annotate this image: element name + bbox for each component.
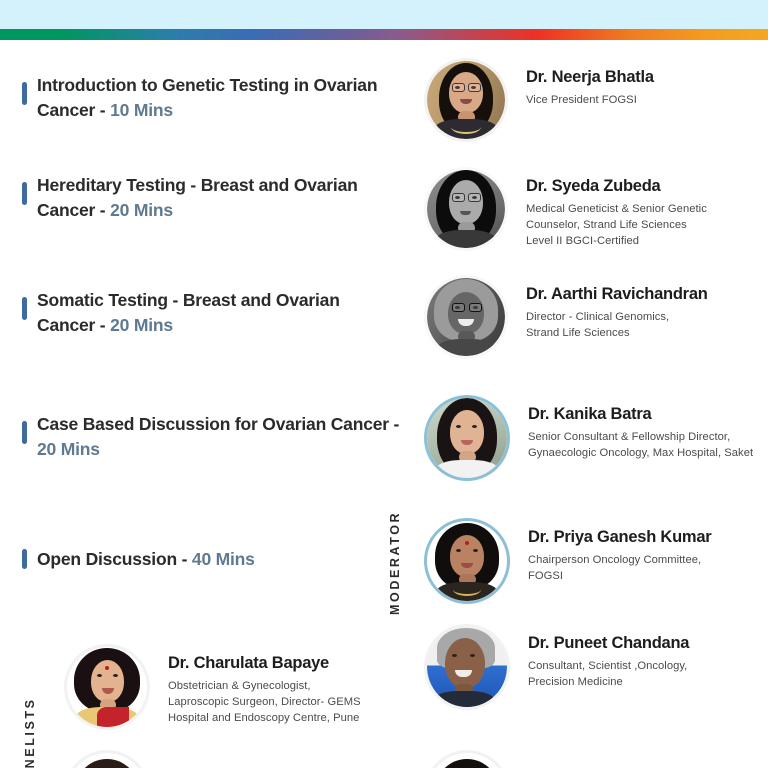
speaker-title: Senior Consultant & Fellowship Director,…: [528, 430, 753, 462]
session-row: Introduction to Genetic Testing in Ovari…: [22, 73, 400, 123]
speaker-name: Dr. Syeda Zubeda: [526, 177, 707, 197]
session-duration: 20 Mins: [110, 200, 173, 220]
speaker-meta: Dr. Charulata Bapaye Obstetrician & Gyne…: [150, 644, 361, 727]
panelists-label: PANELISTS: [23, 660, 37, 768]
session-marker: [22, 297, 27, 320]
session-marker: [22, 549, 27, 569]
session-marker: [22, 82, 27, 105]
speaker-title: Consultant, Scientist ,Oncology, Precisi…: [528, 659, 689, 691]
avatar: [424, 518, 510, 604]
speaker-name: Dr. Priya Ganesh Kumar: [528, 528, 711, 548]
speaker-row: Dr. Priya Ganesh Kumar Chairperson Oncol…: [424, 518, 711, 604]
speaker-title: Chairperson Oncology Committee, FOGSI: [528, 553, 711, 585]
session-row: Somatic Testing - Breast and Ovarian Can…: [22, 288, 400, 338]
session-title: Somatic Testing - Breast and Ovarian Can…: [37, 288, 400, 338]
avatar: [424, 275, 508, 359]
session-duration: 20 Mins: [110, 315, 173, 335]
session-title: Case Based Discussion for Ovarian Cancer…: [37, 412, 400, 462]
session-duration: 10 Mins: [110, 100, 173, 120]
speaker-meta: Dr. Aarthi Ravichandran Director - Clini…: [508, 275, 708, 342]
avatar-image: [427, 170, 505, 248]
page-header: Breast and Ovarian Cancer: [0, 0, 768, 29]
session-title-text: Somatic Testing - Breast and Ovarian Can…: [37, 290, 340, 335]
avatar-image: [427, 278, 505, 356]
avatar-image: [67, 753, 147, 768]
speaker-name: Dr. Aarthi Ravichandran: [526, 285, 708, 305]
speaker-name: Dr. Charulata Bapaye: [168, 654, 361, 674]
avatar: [64, 750, 150, 768]
speaker-meta: Dr. Kanika Batra Senior Consultant & Fel…: [510, 395, 753, 462]
speaker-meta: Dr. Neerja Bhatla Vice President FOGSI: [508, 58, 654, 109]
speaker-title: Director - Clinical Genomics, Strand Lif…: [526, 310, 708, 342]
speaker-name: Dr. Puneet Chandana: [528, 634, 689, 654]
session-duration: 40 Mins: [192, 549, 255, 569]
speaker-row: Dr. Neerja Bhatla Vice President FOGSI: [424, 58, 654, 142]
session-duration: 20 Mins: [37, 439, 100, 459]
speaker-meta: Dr. Syeda Zubeda Medical Geneticist & Se…: [508, 167, 707, 250]
avatar-image: [67, 647, 147, 727]
session-title-text: Open Discussion -: [37, 549, 192, 569]
speaker-title: Obstetrician & Gynecologist, Laproscopic…: [168, 679, 361, 727]
avatar: [424, 624, 510, 710]
speaker-meta: Dr. Puneet Chandana Consultant, Scientis…: [510, 624, 689, 691]
gradient-divider: [0, 29, 768, 40]
speaker-name: Dr. Neerja Bhatla: [526, 68, 654, 88]
avatar-image: [427, 627, 507, 707]
avatar: [424, 750, 510, 768]
avatar-image: [427, 521, 507, 601]
session-row: Case Based Discussion for Ovarian Cancer…: [22, 412, 400, 462]
session-title: Open Discussion - 40 Mins: [37, 547, 255, 572]
speaker-name: Dr. Kanika Batra: [528, 405, 753, 425]
panelist-row: Dr. Puneet Chandana Consultant, Scientis…: [424, 624, 689, 710]
session-title-text: Hereditary Testing - Breast and Ovarian …: [37, 175, 358, 220]
session-marker: [22, 421, 27, 444]
avatar: [424, 167, 508, 251]
speaker-row: Dr. Aarthi Ravichandran Director - Clini…: [424, 275, 708, 359]
panelist-row: Dr. Charulata Bapaye Obstetrician & Gyne…: [64, 644, 361, 730]
avatar-image: [427, 753, 507, 768]
session-title: Hereditary Testing - Breast and Ovarian …: [37, 173, 400, 223]
page-title: Breast and Ovarian Cancer: [0, 0, 768, 7]
speaker-row: Dr. Syeda Zubeda Medical Geneticist & Se…: [424, 167, 707, 251]
avatar: [424, 395, 510, 481]
agenda-page: Breast and Ovarian Cancer Introduction t…: [0, 0, 768, 768]
speaker-row: Dr. Kanika Batra Senior Consultant & Fel…: [424, 395, 753, 481]
session-row: Open Discussion - 40 Mins: [22, 547, 255, 572]
avatar-image: [427, 398, 507, 478]
avatar: [424, 58, 508, 142]
session-row: Hereditary Testing - Breast and Ovarian …: [22, 173, 400, 223]
speaker-title: Medical Geneticist & Senior Genetic Coun…: [526, 202, 707, 250]
speaker-title: Vice President FOGSI: [526, 93, 654, 109]
session-title-text: Case Based Discussion for Ovarian Cancer…: [37, 414, 399, 434]
session-title: Introduction to Genetic Testing in Ovari…: [37, 73, 400, 123]
avatar-image: [427, 61, 505, 139]
moderator-label: MODERATOR: [388, 505, 402, 615]
avatar: [64, 644, 150, 730]
session-title-text: Introduction to Genetic Testing in Ovari…: [37, 75, 377, 120]
speaker-meta: Dr. Priya Ganesh Kumar Chairperson Oncol…: [510, 518, 711, 585]
session-marker: [22, 182, 27, 205]
